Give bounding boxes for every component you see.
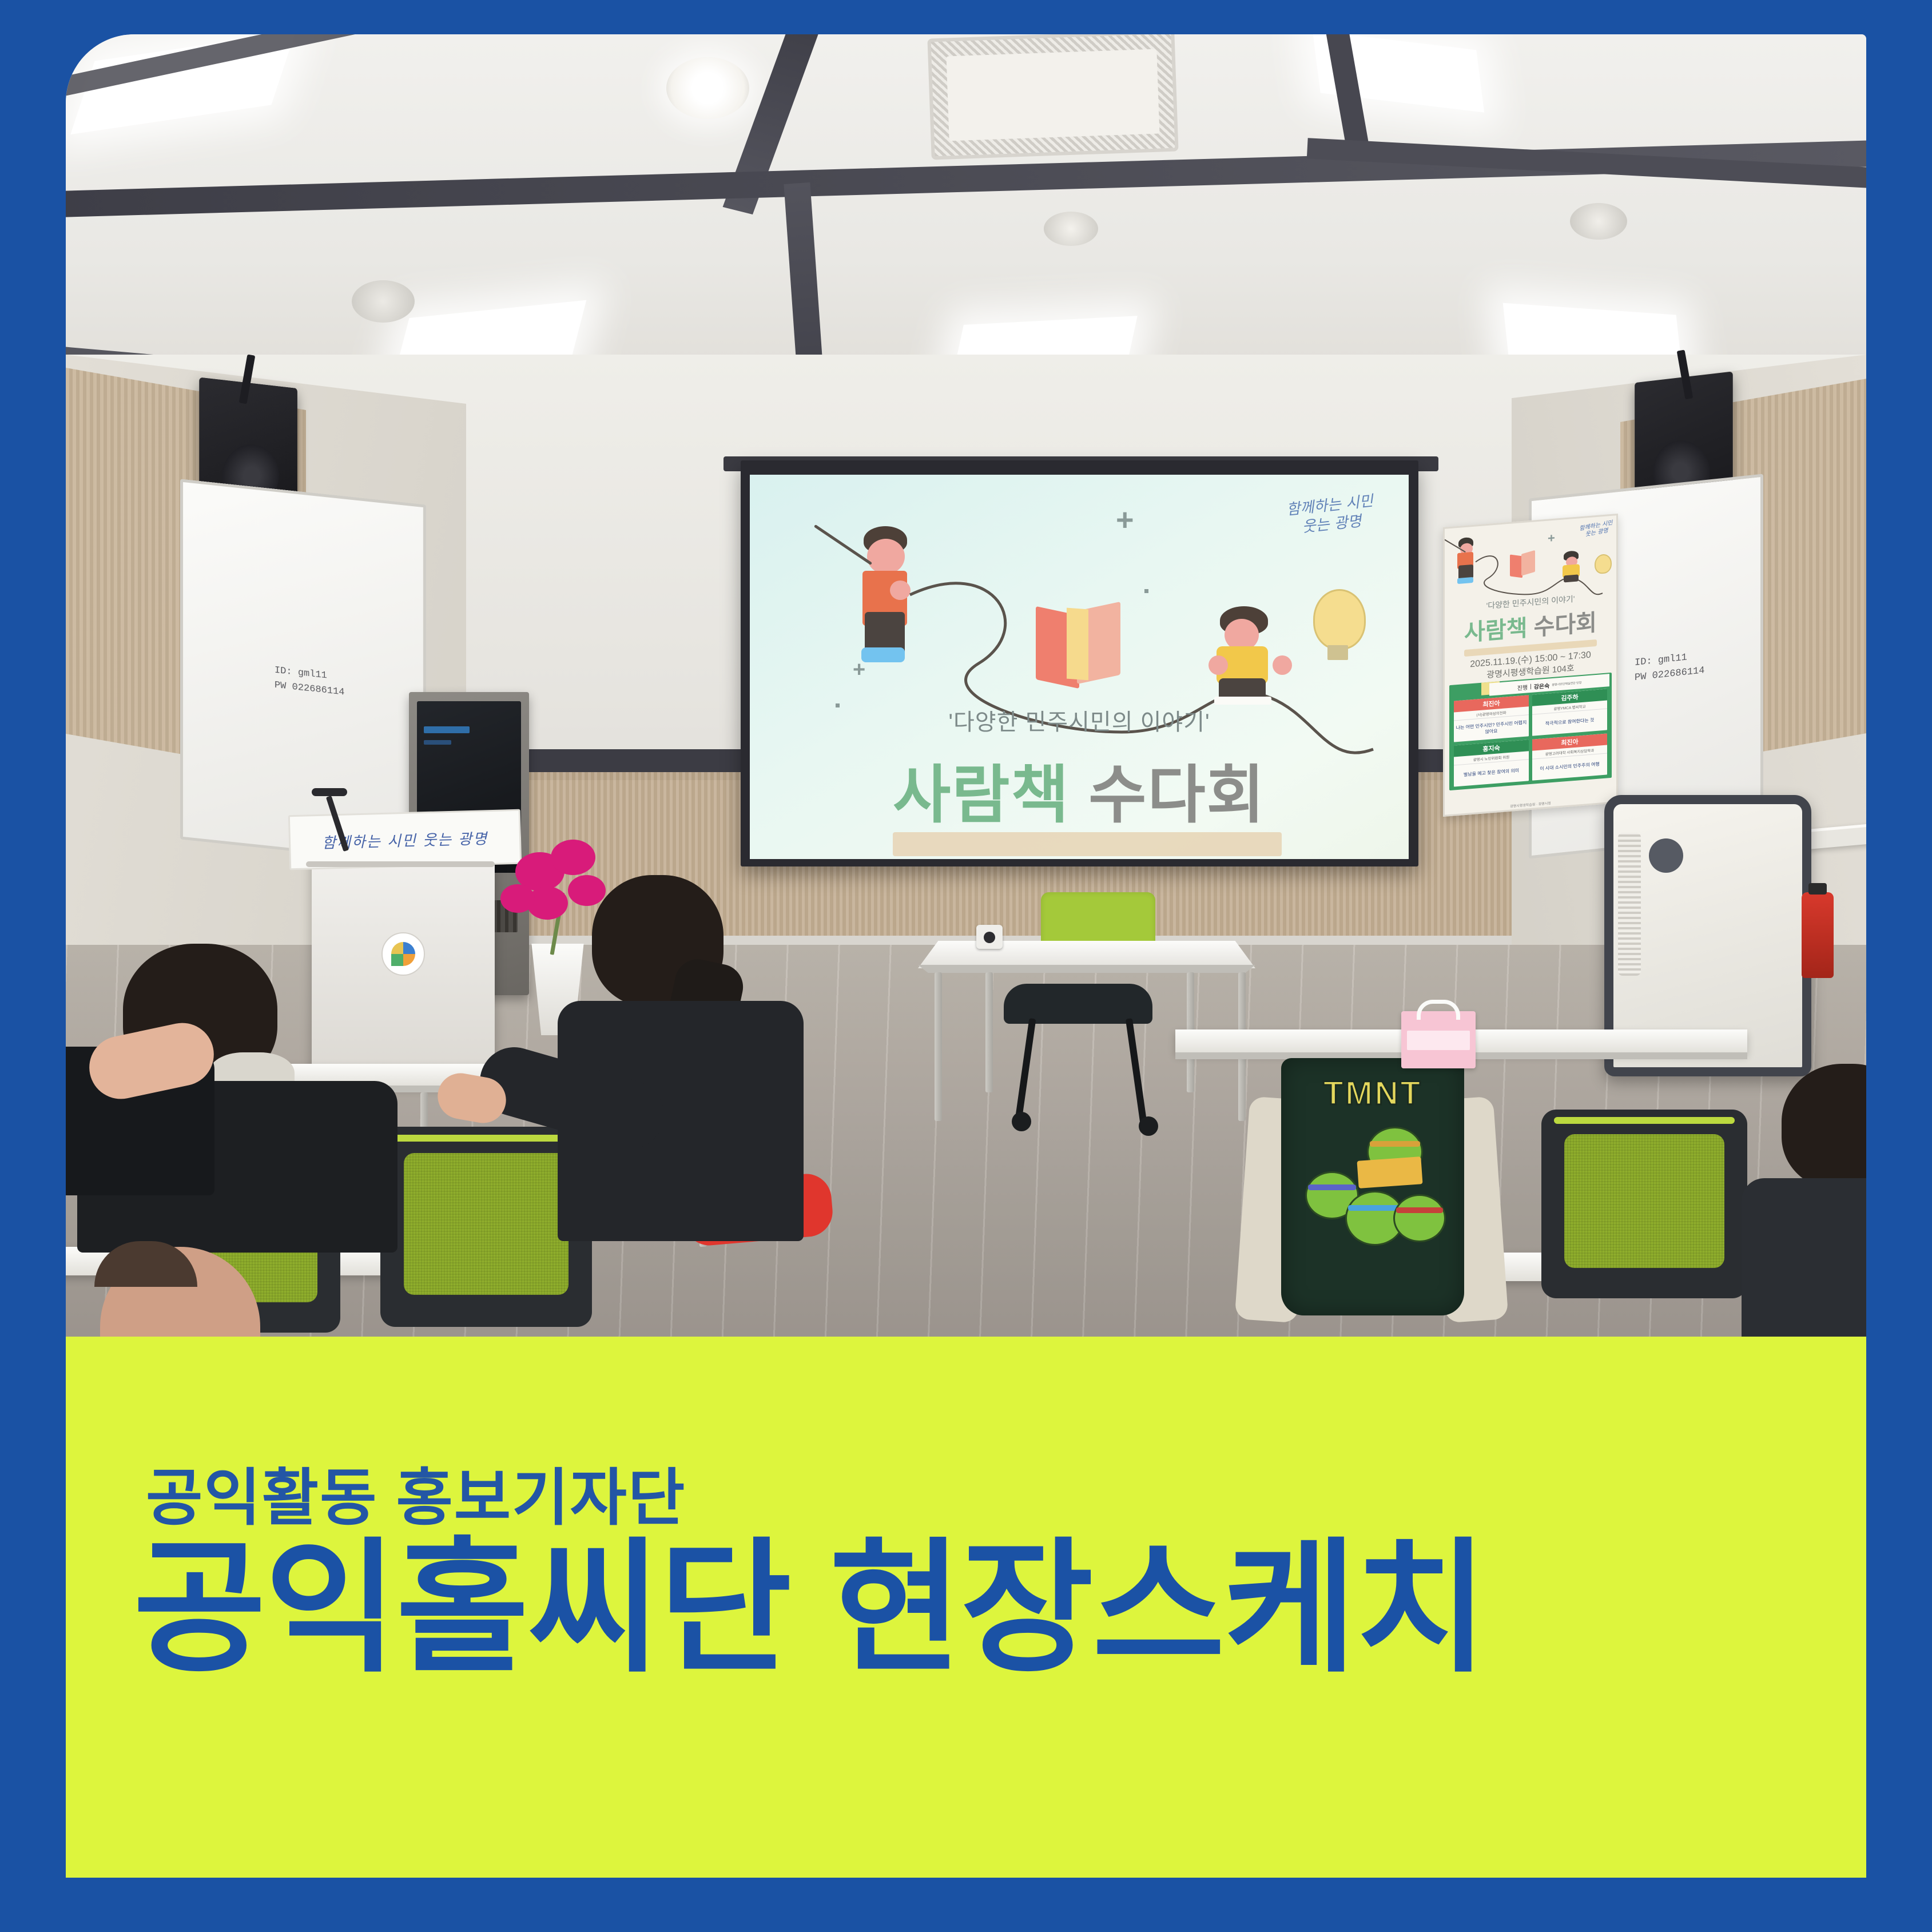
chair-caster <box>1012 1112 1031 1131</box>
ceiling-downlight <box>1044 212 1098 246</box>
poster-speaker-card: 최진아 광명고려대학 사회복지상담학과 이 시대 소시민의 민주주의 여행 <box>1532 733 1607 780</box>
presenter-table <box>918 941 1255 968</box>
poster-speaker-grid: 최진아 (사)광명여성의전화 나는 어떤 민주시민? 민주시민 어렵지 않아요 … <box>1454 689 1607 786</box>
podium: 함께하는 시민 웃는 광명 <box>312 835 495 1075</box>
poster-title-gray: 수다회 <box>1534 610 1597 641</box>
gwangmyeong-city-logo <box>381 932 425 976</box>
slide-subtitle: '다양한 민주시민의 이야기' <box>750 703 1409 737</box>
illustration-person-reading <box>1207 606 1293 709</box>
table-leg <box>935 972 942 1121</box>
box-handle-icon <box>1417 1000 1460 1020</box>
slide-brush-stroke <box>893 832 1282 856</box>
flower-petal <box>500 884 535 913</box>
audience-chair <box>1541 1110 1747 1298</box>
poster-program-panel: 진행 | 강은숙 광명시민단체실천단 단장 최진아 (사)광명여성의전화 나는 … <box>1449 673 1612 790</box>
host-org: 광명시민단체실천단 단장 <box>1552 680 1581 686</box>
flower-petal <box>568 875 606 906</box>
lightbulb-icon <box>1313 589 1366 650</box>
box-label <box>1407 1031 1470 1050</box>
projection-screen: 함께하는 시민 웃는 광명 + + <box>750 475 1409 859</box>
wall-poster: + 함께하는 시민 웃는 광명 '다양한 민주시민의 이야기' 사람책 수다회 … <box>1443 514 1618 817</box>
ceiling-downlight <box>352 280 415 323</box>
poster-card: ID: gml11 PW 022686114 ID: gml11 PW 0226… <box>0 0 1932 1932</box>
banner-kicker: 공익활동 홍보기자단 <box>146 1448 686 1537</box>
slide-title-gray: 수다회 <box>1088 760 1266 830</box>
jacket-graphic-text: TMNT <box>1281 1074 1464 1112</box>
plus-decoration-icon: + <box>1116 502 1134 538</box>
fire-extinguisher <box>1802 892 1834 978</box>
slide-title-green: 사람책 <box>893 760 1070 830</box>
slide-title: 사람책 수다회 <box>750 744 1409 835</box>
host-label: 진행 <box>1517 682 1528 691</box>
gwangmyeong-brand-mark: 함께하는 시민 웃는 광명 <box>1286 492 1376 538</box>
whiteboard-note-left: ID: gml11 PW 022686114 <box>275 663 344 700</box>
poster-speaker-card: 홍지숙 광명시 노인위원회 위원 벌남을 메고 찾은 참여의 의미 <box>1454 740 1529 786</box>
event-photo: ID: gml11 PW 022686114 ID: gml11 PW 0226… <box>66 34 1866 1337</box>
poster-speaker-card: 최진아 (사)광명여성의전화 나는 어떤 민주시민? 민주시민 어렵지 않아요 <box>1454 695 1529 742</box>
poster-title-green: 사람책 <box>1464 615 1527 646</box>
open-book-icon <box>1036 606 1122 686</box>
caption-banner: 공익활동 홍보기자단 공익홀씨단 현장스케치 <box>66 1337 1866 1878</box>
banner-title: 공익홀씨단 현장스케치 <box>133 1537 1486 1681</box>
whiteboard-left: ID: gml11 PW 022686114 <box>180 479 426 865</box>
turtle-graphic-icon <box>1393 1194 1446 1242</box>
ceiling-downlight <box>1570 203 1627 240</box>
gift-box <box>1401 1011 1476 1068</box>
jacket-body: TMNT <box>1281 1058 1464 1315</box>
podium-handle-bar <box>306 861 495 867</box>
table-leg <box>985 972 993 1092</box>
chair-caster <box>1139 1116 1158 1136</box>
presenter-table-edge <box>918 965 1255 973</box>
flower-petal <box>551 840 595 875</box>
poster-speaker-card: 김주하 광명YMCA 볍씨학교 적극적으로 참여한다는 것 <box>1532 689 1607 736</box>
ceiling-downlight <box>666 57 749 119</box>
host-name: 강은숙 <box>1534 681 1550 690</box>
ceiling-air-vent <box>927 34 1178 160</box>
webcam <box>976 925 1003 949</box>
tmnt-jacket: TMNT <box>1247 1058 1493 1327</box>
pizza-graphic-icon <box>1357 1156 1422 1188</box>
microphone-head <box>312 788 347 796</box>
whiteboard-note-right: ID: gml11 PW 022686114 <box>1635 649 1704 685</box>
